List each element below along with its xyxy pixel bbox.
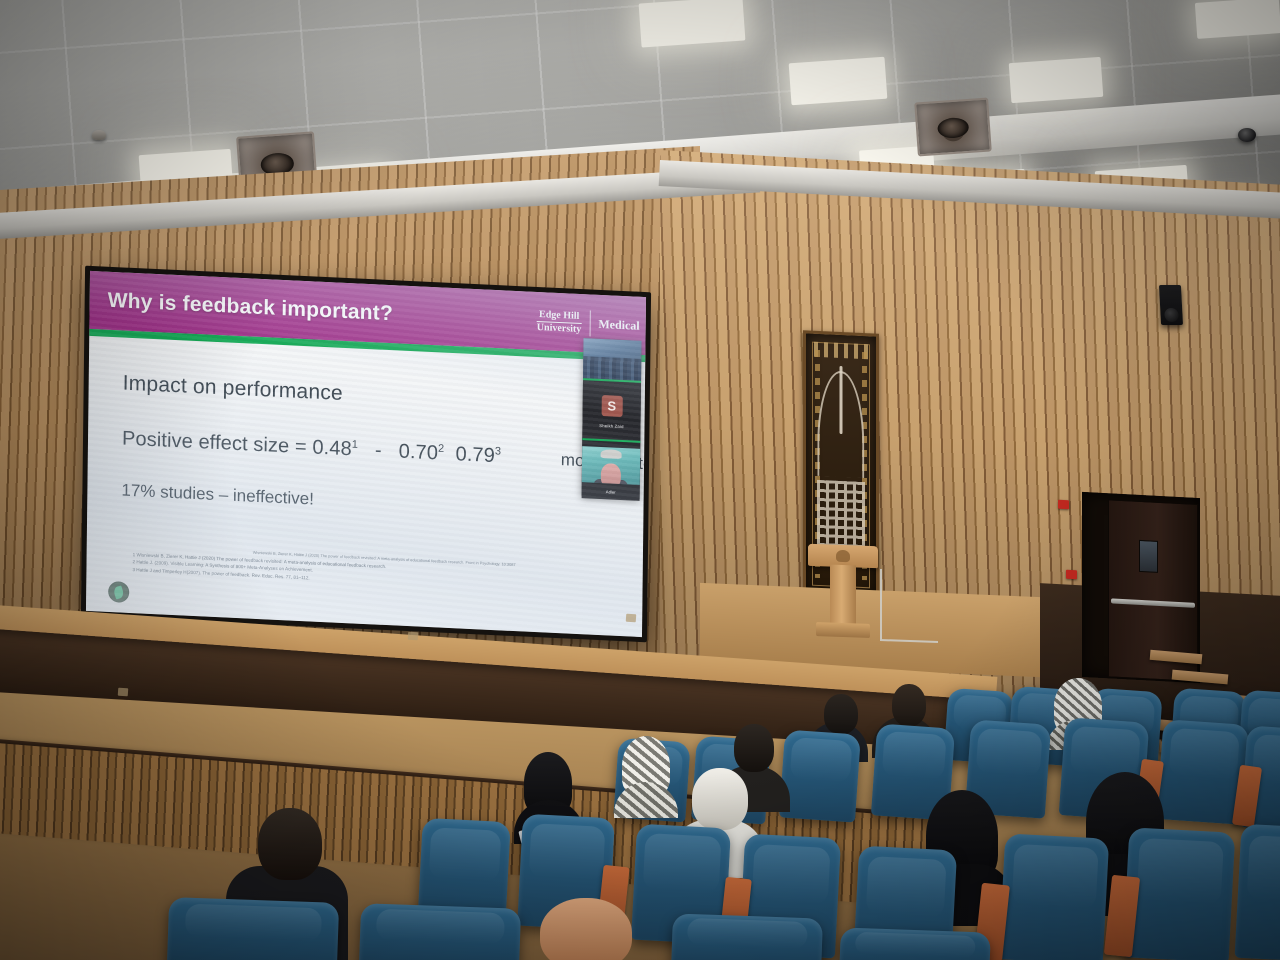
participant-hair [601, 449, 622, 459]
auditorium-seat[interactable] [1123, 827, 1236, 960]
brand-line-2: University [537, 322, 582, 335]
effect-value-2: 0.70 [399, 441, 439, 465]
auditorium-seat[interactable] [999, 833, 1109, 960]
person-head [892, 684, 926, 726]
effect-prefix: Positive effect size = [122, 428, 313, 459]
lectern-base [816, 622, 870, 638]
participant-video-feed [582, 446, 640, 485]
ceiling-speaker [914, 97, 992, 156]
person-head [734, 724, 774, 772]
stage-bracket [118, 688, 129, 697]
auditorium-seat[interactable] [671, 913, 823, 960]
stage-bracket [626, 614, 637, 623]
ceiling-light [1195, 0, 1280, 39]
person-head-bald [540, 898, 632, 960]
ceiling-light [789, 57, 888, 106]
participant-name: Sheikh Zaid [599, 422, 623, 428]
fire-alarm-device [1058, 500, 1069, 510]
effect-dash: - [375, 439, 382, 461]
effect-sup-3: 3 [495, 445, 501, 457]
person-head-grey-hair [692, 768, 748, 830]
ineffective-line: 17% studies – ineffective! [121, 481, 621, 524]
video-call-photo-thumbnail [583, 338, 641, 381]
slide-title: Why is feedback important? [90, 288, 394, 326]
smoke-detector [92, 130, 106, 140]
door-window [1139, 540, 1158, 573]
auditorium-seat[interactable] [167, 897, 339, 960]
fire-alarm-device [1066, 570, 1077, 580]
video-participant-tile[interactable]: S Sheikh Zaid [582, 378, 641, 443]
auditorium-scene: Why is feedback important? Edge Hill Uni… [0, 0, 1280, 960]
person-head [258, 808, 322, 880]
projection-screen: Why is feedback important? Edge Hill Uni… [86, 271, 646, 637]
effect-value-1: 0.48 [312, 436, 352, 460]
ceiling-light [639, 0, 746, 48]
medical-school-label: Medical [598, 316, 640, 333]
brand-divider [589, 310, 590, 336]
participant-head [601, 463, 621, 485]
edge-hill-university-logo: Edge Hill University [537, 309, 582, 335]
door-push-bar[interactable] [1111, 598, 1195, 607]
leaf-badge-icon [108, 581, 129, 603]
auditorium-seat[interactable] [359, 903, 521, 960]
video-call-panel[interactable]: S Sheikh Zaid Adler [582, 338, 642, 499]
auditorium-seat[interactable] [1235, 824, 1280, 960]
auditorium-seat[interactable] [779, 729, 861, 822]
person-head [824, 694, 858, 734]
panel-top-ornament [814, 342, 867, 360]
mic-stand [880, 569, 938, 643]
video-participant-tile[interactable]: Adler [582, 438, 641, 501]
participant-avatar-initial: S [601, 395, 622, 417]
ceiling-camera [1238, 128, 1256, 142]
effect-sup-2: 2 [438, 443, 444, 455]
leaf-shape [113, 585, 125, 599]
wooden-lectern [808, 544, 878, 646]
participant-name: Adler [606, 489, 616, 494]
panel-vertical-stroke [840, 366, 843, 434]
branding-block: Edge Hill University Medical [537, 308, 646, 339]
wall-mounted-speaker [1159, 285, 1183, 325]
lectern-column [830, 565, 856, 626]
stage-bracket [408, 632, 419, 641]
effect-value-3: 0.79 [455, 443, 495, 467]
effect-sup-1: 1 [352, 439, 358, 451]
presentation-slide: Why is feedback important? Edge Hill Uni… [86, 271, 646, 637]
ceiling-light [1009, 57, 1104, 103]
slide-heading: Impact on performance [123, 372, 623, 420]
effect-size-line: Positive effect size = 0.481 - 0.702 0.7… [122, 428, 622, 475]
auditorium-seat[interactable] [839, 927, 991, 960]
